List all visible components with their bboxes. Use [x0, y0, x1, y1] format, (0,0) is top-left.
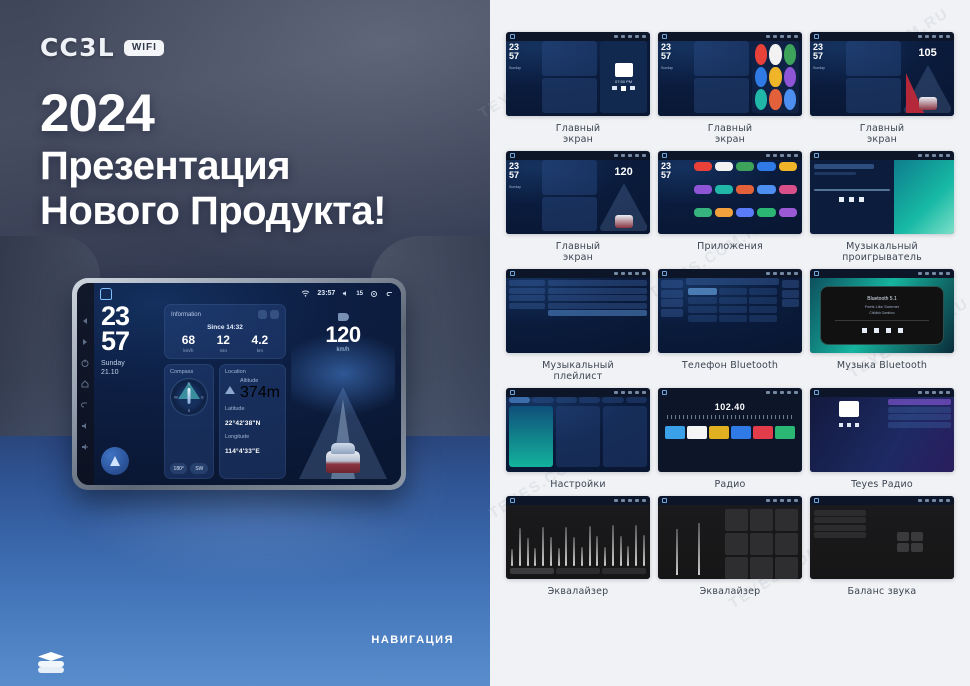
gallery-item[interactable]: Музыкальный проигрыватель	[810, 151, 954, 264]
location-card[interactable]: Location Altitude 374m	[219, 364, 286, 479]
thumbnail-caption: Телефон Bluetooth	[682, 360, 778, 371]
thumbnail-caption: Эквалайзер	[700, 586, 761, 597]
screenshot-thumbnail[interactable]: 2357	[658, 151, 802, 235]
back-arrow-icon[interactable]	[385, 290, 394, 298]
volume-down-icon[interactable]	[80, 421, 90, 431]
information-title: Information	[171, 312, 201, 318]
compass-dial: N S E W	[170, 378, 208, 416]
gallery-item[interactable]: 2357Sunday 120 Главный экран	[506, 151, 650, 264]
info-refresh-icon[interactable]	[258, 310, 267, 319]
gallery-grid: 2357Sunday 07:50 PM Главный экран 2357Su…	[506, 32, 954, 597]
thumbnail-caption: Баланс звука	[848, 586, 917, 597]
gallery-item[interactable]: Настройки	[506, 388, 650, 490]
car-window	[331, 443, 355, 454]
info-expand-icon[interactable]	[270, 310, 279, 319]
head-unit-screen[interactable]: 23:57 15 23 57 Sunday	[94, 283, 401, 485]
compass-card[interactable]: Compass N S E W	[164, 364, 214, 479]
hero-panel: CC3L WIFI 2024 Презентация Нового Продук…	[0, 0, 490, 686]
gallery-item[interactable]: 102.40 Радио	[658, 388, 802, 490]
stat-distance-unit: km	[252, 348, 269, 353]
hud-speed-value: 120	[291, 324, 395, 346]
car-body	[326, 451, 360, 473]
compass-north: N	[188, 381, 191, 386]
clock-widget[interactable]: 23 57 Sunday 21.10	[101, 304, 159, 479]
gallery-item[interactable]: Teyes Радио	[810, 388, 954, 490]
hud-car-graphic	[326, 443, 360, 473]
screenshot-thumbnail[interactable]	[810, 388, 954, 472]
power-icon[interactable]	[80, 358, 90, 368]
gallery-item[interactable]: 2357Sunday Главный экран	[658, 32, 802, 145]
clock-minutes: 57	[101, 329, 159, 354]
hud-speed-unit: km/h	[291, 347, 395, 353]
volume-up-icon[interactable]	[80, 442, 90, 452]
stat-speed-unit: km/h	[182, 348, 195, 353]
screenshot-thumbnail[interactable]	[658, 496, 802, 580]
latitude-value: 22°42'38"N	[225, 420, 261, 427]
thumbnail-caption: Главный экран	[708, 123, 753, 145]
home-icon[interactable]	[80, 379, 90, 389]
thumbnail-caption: Teyes Радио	[851, 479, 913, 490]
gallery-item[interactable]: Эквалайзер	[506, 496, 650, 598]
screenshot-thumbnail[interactable]	[506, 496, 650, 580]
gallery-item[interactable]: 2357 Приложения	[658, 151, 802, 264]
screenshot-thumbnail[interactable]	[506, 388, 650, 472]
compass-heading: 180°	[170, 463, 188, 474]
hud-icon	[338, 313, 349, 321]
gallery-item[interactable]: Bluetooth 5.1Feels Like SummerChildish G…	[810, 269, 954, 382]
compass-south: S	[188, 408, 191, 413]
stat-distance-value: 4.2	[252, 334, 269, 347]
screenshot-gallery: TEYES.COM.RU TEYES.COM.RU TEYES.COM.RU T…	[490, 0, 970, 686]
hardware-button-rail[interactable]	[77, 283, 94, 485]
back-icon[interactable]	[80, 400, 90, 410]
screenshot-thumbnail[interactable]	[658, 269, 802, 353]
screenshot-thumbnail[interactable]: 2357Sunday	[658, 32, 802, 116]
thumbnail-caption: Эквалайзер	[548, 586, 609, 597]
screenshot-thumbnail[interactable]	[506, 269, 650, 353]
longitude-label: Longitude	[225, 434, 280, 440]
clock-day: Sunday	[101, 359, 159, 368]
thumbnail-caption: Музыкальный плейлист	[542, 360, 614, 382]
home-screen-layout: 23 57 Sunday 21.10	[94, 304, 401, 485]
status-clock: 23:57	[317, 290, 335, 297]
prev-track-icon[interactable]	[80, 316, 90, 326]
thumbnail-caption: Радио	[714, 479, 745, 490]
trip-stats: 68 km/h 12 min 4.2	[171, 334, 279, 353]
compass-direction: SW	[190, 463, 208, 474]
stat-duration-unit: min	[217, 348, 230, 353]
stat-duration: 12 min	[217, 334, 230, 353]
wifi-icon	[301, 290, 310, 297]
longitude-value: 114°4'33"E	[225, 448, 260, 455]
gallery-item[interactable]: 2357Sunday 105 Главный экран	[810, 32, 954, 145]
gear-icon[interactable]	[370, 290, 378, 298]
hud-speed-widget[interactable]: 120 km/h	[291, 304, 395, 479]
presentation-page: CC3L WIFI 2024 Презентация Нового Продук…	[0, 0, 970, 686]
screenshot-thumbnail[interactable]: Bluetooth 5.1Feels Like SummerChildish G…	[810, 269, 954, 353]
compass-west: W	[174, 395, 178, 400]
compass-east: E	[201, 395, 204, 400]
next-track-icon[interactable]	[80, 337, 90, 347]
status-home-icon[interactable]	[100, 288, 112, 300]
thumbnail-caption: Главный экран	[556, 123, 601, 145]
altitude-value: 374m	[240, 384, 280, 401]
gallery-item[interactable]: Телефон Bluetooth	[658, 269, 802, 382]
stat-speed-value: 68	[182, 334, 195, 347]
thumbnail-caption: Настройки	[550, 479, 605, 490]
thumbnail-caption: Музыка Bluetooth	[837, 360, 927, 371]
screenshot-thumbnail[interactable]	[810, 151, 954, 235]
stat-speed: 68 km/h	[182, 334, 195, 353]
screenshot-thumbnail[interactable]: 102.40	[658, 388, 802, 472]
gallery-item[interactable]: Баланс звука	[810, 496, 954, 598]
gallery-item[interactable]: Музыкальный плейлист	[506, 269, 650, 382]
screenshot-thumbnail[interactable]: 2357Sunday 105	[810, 32, 954, 116]
compass-needle	[187, 388, 190, 404]
navigation-arrow-icon	[110, 456, 120, 466]
head-unit-device: 23:57 15 23 57 Sunday	[72, 278, 406, 490]
thumbnail-caption: Приложения	[697, 241, 763, 252]
latitude-label: Latitude	[225, 406, 280, 412]
thumbnail-caption: Музыкальный проигрыватель	[842, 241, 922, 263]
navigation-label: НАВИГАЦИЯ	[371, 634, 454, 646]
volume-icon	[342, 290, 349, 297]
gallery-item[interactable]: Эквалайзер	[658, 496, 802, 598]
screenshot-thumbnail[interactable]	[810, 496, 954, 580]
stat-distance: 4.2 km	[252, 334, 269, 353]
information-card[interactable]: Information Since 14:32	[164, 304, 286, 359]
status-bar: 23:57 15	[94, 283, 401, 304]
mountain-icon	[225, 386, 236, 394]
screenshot-thumbnail[interactable]: 2357Sunday 07:50 PM	[506, 32, 650, 116]
status-volume-value: 15	[356, 291, 363, 297]
screenshot-thumbnail[interactable]: 2357Sunday 120	[506, 151, 650, 235]
thumbnail-caption: Главный экран	[556, 241, 601, 263]
navigation-button[interactable]	[101, 447, 129, 475]
stat-duration-value: 12	[217, 334, 230, 347]
gallery-item[interactable]: 2357Sunday 07:50 PM Главный экран	[506, 32, 650, 145]
location-title: Location	[225, 369, 280, 375]
trip-since-label: Since 14:32	[171, 324, 279, 331]
thumbnail-caption: Главный экран	[860, 123, 905, 145]
clock-date: 21.10	[101, 368, 159, 377]
compass-title: Compass	[170, 369, 208, 375]
